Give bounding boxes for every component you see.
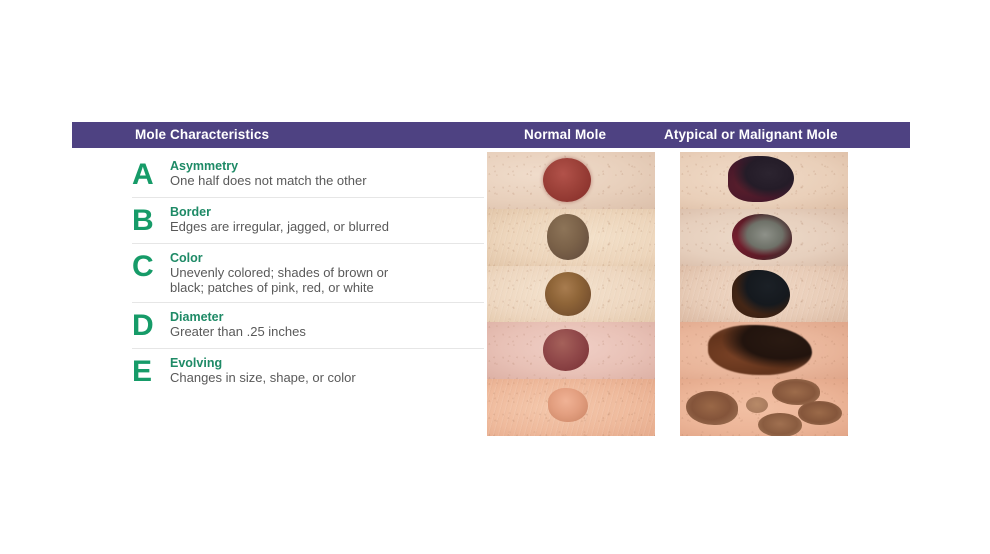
normal-mole-photo-5 [487, 379, 655, 436]
malignant-lesion [758, 413, 802, 436]
criteria-description-color: Unevenly colored; shades of brown or bla… [170, 266, 420, 295]
criteria-letter-c: C [132, 250, 170, 282]
criteria-text-color: Color Unevenly colored; shades of brown … [170, 250, 484, 295]
criteria-description-diameter: Greater than .25 inches [170, 325, 420, 340]
criteria-title-evolving: Evolving [170, 356, 484, 370]
mole-lesion [548, 388, 588, 422]
mole-lesion [547, 214, 589, 260]
criteria-title-border: Border [170, 205, 484, 219]
normal-mole-photo-4 [487, 322, 655, 379]
criteria-letter-b: B [132, 204, 170, 236]
table-header-bar: Mole Characteristics Normal Mole Atypica… [72, 122, 910, 148]
table-body: A Asymmetry One half does not match the … [72, 148, 910, 456]
criteria-text-evolving: Evolving Changes in size, shape, or colo… [170, 355, 484, 386]
criteria-letter-d: D [132, 309, 170, 341]
malignant-lesion [798, 401, 842, 425]
atypical-mole-photo-2 [680, 209, 848, 266]
mole-lesion [543, 158, 591, 202]
criteria-row-color: C Color Unevenly colored; shades of brow… [132, 244, 484, 303]
atypical-mole-photo-3 [680, 266, 848, 323]
column-header-mole-characteristics: Mole Characteristics [135, 122, 269, 148]
atypical-mole-photo-5 [680, 379, 848, 436]
criteria-row-asymmetry: A Asymmetry One half does not match the … [132, 152, 484, 198]
criteria-letter-a: A [132, 158, 170, 190]
criteria-title-asymmetry: Asymmetry [170, 159, 484, 173]
column-header-atypical-or-malignant-mole: Atypical or Malignant Mole [664, 122, 838, 148]
malignant-lesion [708, 325, 812, 375]
normal-mole-photo-2 [487, 209, 655, 266]
atypical-mole-photo-4 [680, 322, 848, 379]
malignant-lesion [732, 214, 792, 260]
criteria-text-asymmetry: Asymmetry One half does not match the ot… [170, 158, 484, 189]
criteria-description-evolving: Changes in size, shape, or color [170, 371, 420, 386]
criteria-description-border: Edges are irregular, jagged, or blurred [170, 220, 420, 235]
atypical-mole-photo-column [680, 152, 848, 436]
criteria-letter-e: E [132, 355, 170, 387]
criteria-title-diameter: Diameter [170, 310, 484, 324]
normal-mole-photo-column [487, 152, 655, 436]
criteria-text-diameter: Diameter Greater than .25 inches [170, 309, 484, 340]
normal-mole-photo-1 [487, 152, 655, 209]
column-header-normal-mole: Normal Mole [524, 122, 606, 148]
abcde-criteria-list: A Asymmetry One half does not match the … [132, 152, 484, 394]
criteria-row-border: B Border Edges are irregular, jagged, or… [132, 198, 484, 244]
criteria-title-color: Color [170, 251, 484, 265]
mole-lesion [545, 272, 591, 316]
criteria-text-border: Border Edges are irregular, jagged, or b… [170, 204, 484, 235]
normal-mole-photo-3 [487, 266, 655, 323]
mole-characteristics-infographic: Mole Characteristics Normal Mole Atypica… [72, 122, 910, 456]
criteria-description-asymmetry: One half does not match the other [170, 174, 420, 189]
criteria-row-evolving: E Evolving Changes in size, shape, or co… [132, 349, 484, 394]
criteria-row-diameter: D Diameter Greater than .25 inches [132, 303, 484, 349]
malignant-lesion [732, 270, 790, 318]
atypical-mole-photo-1 [680, 152, 848, 209]
